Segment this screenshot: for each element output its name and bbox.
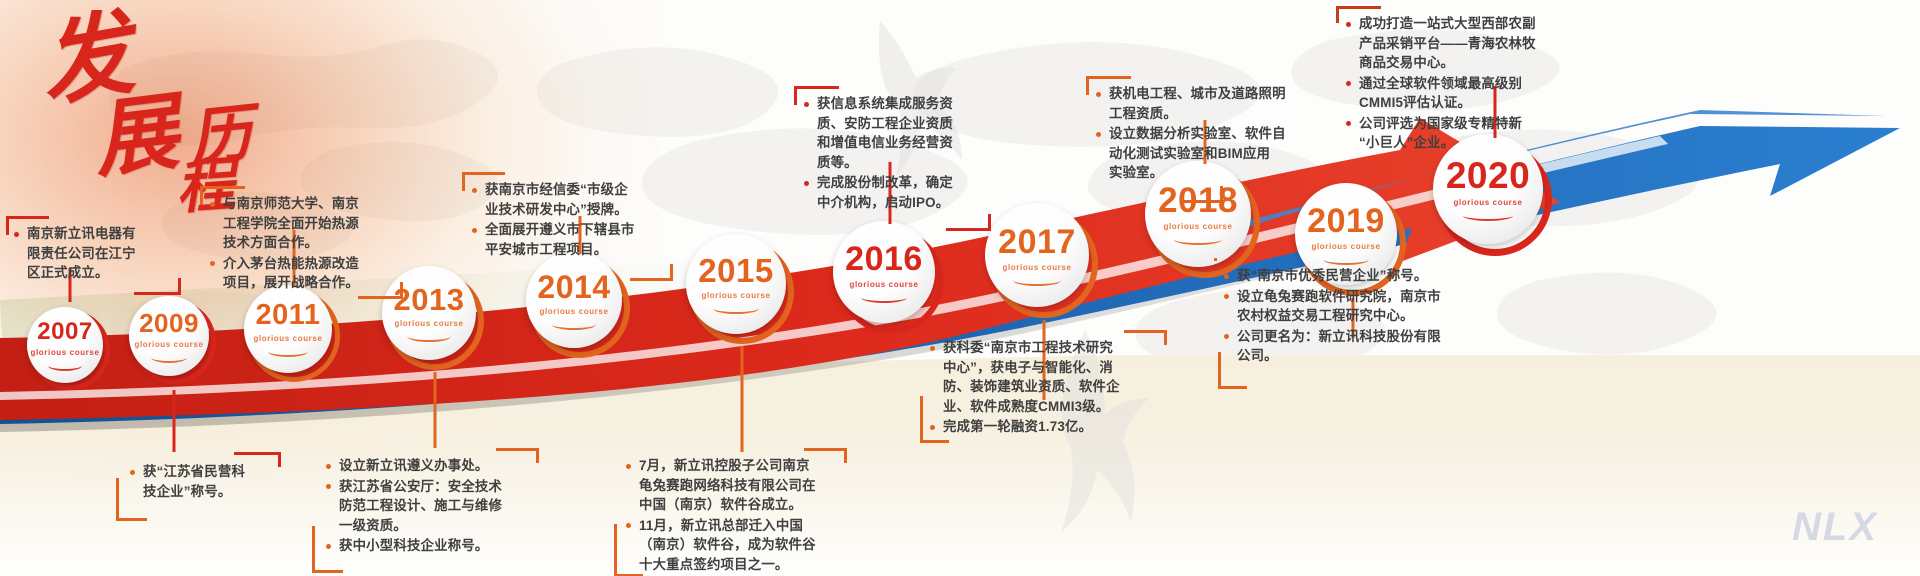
milestone-card-2019: 获“南京市优秀民营企业”称号。 设立龟兔赛跑软件研究院，南京市 农村权益交易工程…: [1214, 258, 1472, 367]
milestone-item: 完成第一轮融资1.73亿。: [930, 417, 1166, 437]
milestone-item: 完成股份制改革，确定 中介机构，启动IPO。: [804, 173, 990, 212]
year-badge-2009[interactable]: 2009 glorious course: [132, 300, 216, 384]
badge-year-2011: 2011: [256, 301, 321, 330]
badge-subtitle: glorious course: [394, 319, 463, 328]
badge-subtitle: glorious course: [1163, 222, 1232, 231]
milestone-item: 11月，新立讯总部迁入中国 （南京）软件谷，成为软件谷 十大重点签约项目之一。: [626, 516, 848, 575]
badge-disc: 2017 glorious course: [985, 203, 1089, 307]
badge-subtitle: glorious course: [1453, 198, 1522, 207]
corner-bracket-br: [358, 282, 403, 299]
year-badge-2020[interactable]: 2020 glorious course: [1438, 142, 1552, 256]
corner-bracket-bl: [1218, 352, 1247, 389]
badge-year-2020: 2020: [1446, 157, 1530, 194]
corner-bracket-br: [946, 214, 991, 231]
milestone-item: 获江苏省公安厅：安全技术 防范工程设计、施工与维修 一级资质。: [326, 477, 540, 536]
milestone-item: 获信息系统集成服务资 质、安防工程企业资质 和增值电信业务经营资 质等。: [804, 94, 990, 172]
title-char-2: 展: [89, 91, 183, 185]
milestone-item: 全面展开遵义市下辖县市 平安城市工程项目。: [472, 220, 672, 259]
milestone-card-2017: 获科委“南京市工程技术研究 中心”，获电子与智能化、消 防、装饰建筑业资质、软件…: [918, 330, 1166, 438]
milestone-item: 公司更名为：新立讯科技股份有限 公司。: [1224, 327, 1472, 366]
milestone-card-2013: 设立新立讯遵义办事处。 获江苏省公安厅：安全技术 防范工程设计、施工与维修 一级…: [310, 448, 540, 557]
badge-subtitle: glorious course: [849, 280, 918, 289]
badge-disc: 2011 glorious course: [244, 285, 332, 373]
corner-bracket-br: [630, 264, 673, 281]
badge-smile: [713, 303, 759, 314]
milestone-card-2020: 成功打造一站式大型西部农副 产品采销平台——青海农林牧 商品交易中心。 通过全球…: [1336, 6, 1592, 154]
badge-year-2017: 2017: [998, 225, 1076, 259]
badge-smile: [151, 352, 188, 363]
milestone-card-2015: 7月，新立讯控股子公司南京 龟兔赛跑网络科技有限公司在 中国（南京）软件谷成立。…: [612, 448, 848, 575]
corner-bracket-bl: [116, 478, 147, 521]
badge-smile: [407, 331, 450, 342]
milestone-card-2007: 南京新立讯电器有 限责任公司在江宁 区正式成立。: [6, 216, 186, 284]
badge-smile: [861, 292, 908, 303]
milestone-item: 获机电工程、城市及道路照明 工程资质。: [1096, 84, 1326, 123]
milestone-item: 成功打造一站式大型西部农副 产品采销平台——青海农林牧 商品交易中心。: [1346, 14, 1592, 73]
corner-bracket-tr: [1214, 258, 1217, 261]
badge-smile: [552, 319, 596, 330]
badge-subtitle: glorious course: [701, 291, 770, 300]
milestone-item: 获中小型科技企业称号。: [326, 536, 540, 556]
corner-bracket-br: [1180, 186, 1223, 203]
milestone-card-2009: 获“江苏省民营科 技企业”称号。: [108, 452, 284, 502]
badge-year-2007: 2007: [37, 320, 92, 344]
badge-subtitle: glorious course: [134, 340, 203, 349]
badge-disc: 2016 glorious course: [833, 221, 935, 323]
milestone-item: 公司评选为国家级专精特新 “小巨人”企业。: [1346, 114, 1592, 153]
badge-subtitle: glorious course: [539, 307, 608, 316]
corner-bracket-br: [134, 278, 181, 295]
badge-smile: [1013, 275, 1061, 286]
milestone-card-2014: 获南京市经信委“市级企 业技术研发中心”授牌。 全面展开遵义市下辖县市 平安城市…: [462, 172, 672, 260]
milestone-item: 7月，新立讯控股子公司南京 龟兔赛跑网络科技有限公司在 中国（南京）软件谷成立。: [626, 456, 848, 515]
milestone-item: 获南京市经信委“市级企 业技术研发中心”授牌。: [472, 180, 672, 219]
milestone-item: 获科委“南京市工程技术研究 中心”，获电子与智能化、消 防、装饰建筑业资质、软件…: [930, 338, 1166, 416]
year-badge-2017[interactable]: 2017 glorious course: [990, 210, 1098, 318]
milestone-item: 与南京师范大学、南京 工程学院全面开始热源 技术方面合作。: [210, 194, 400, 253]
badge-year-2019: 2019: [1307, 204, 1385, 238]
year-badge-2011[interactable]: 2011 glorious course: [248, 290, 340, 382]
badge-year-2015: 2015: [698, 254, 773, 287]
milestone-item: 获“江苏省民营科 技企业”称号。: [130, 462, 284, 501]
badge-disc: 2009 glorious course: [129, 296, 209, 376]
badge-year-2016: 2016: [845, 242, 923, 276]
corner-bracket-bl: [312, 526, 343, 573]
milestone-card-2018: 获机电工程、城市及道路照明 工程资质。 设立数据分析实验室、软件自 动化测试实验…: [1086, 76, 1326, 184]
milestone-item: 获“南京市优秀民营企业”称号。: [1224, 266, 1472, 286]
corner-bracket-bl: [920, 396, 949, 443]
badge-smile: [48, 360, 83, 371]
milestone-item: 通过全球软件领域最高级别 CMMI5评估认证。: [1346, 74, 1592, 113]
milestone-card-2011: 与南京师范大学、南京 工程学院全面开始热源 技术方面合作。 介入茅台热能热源改造…: [200, 186, 400, 294]
badge-disc: 2014 glorious course: [526, 252, 622, 348]
year-badge-2016[interactable]: 2016 glorious course: [838, 228, 944, 334]
milestone-item: 设立数据分析实验室、软件自 动化测试实验室和BIM应用 实验室。: [1096, 124, 1326, 183]
badge-year-2009: 2009: [139, 310, 199, 336]
company-watermark: NLX: [1792, 505, 1878, 550]
badge-disc: 2015 glorious course: [686, 234, 786, 334]
year-badge-2014[interactable]: 2014 glorious course: [530, 258, 630, 358]
badge-subtitle: glorious course: [1311, 242, 1380, 251]
badge-subtitle: glorious course: [253, 334, 322, 343]
badge-smile: [1174, 234, 1223, 245]
milestone-card-2016: 获信息系统集成服务资 质、安防工程企业资质 和增值电信业务经营资 质等。 完成股…: [794, 86, 990, 213]
year-badge-2007[interactable]: 2007 glorious course: [30, 310, 110, 390]
badge-year-2013: 2013: [394, 284, 465, 315]
timeline-infographic: 发 展 历 程 2007 glorious course 2009 glorio…: [0, 0, 1920, 576]
milestone-item: 南京新立讯电器有 限责任公司在江宁 区正式成立。: [14, 224, 186, 283]
badge-year-2014: 2014: [537, 271, 610, 303]
milestone-item: 设立龟兔赛跑软件研究院，南京市 农村权益交易工程研究中心。: [1224, 287, 1472, 326]
corner-bracket-bl: [614, 524, 643, 576]
badge-smile: [268, 346, 308, 357]
milestone-item: 设立新立讯遵义办事处。: [326, 456, 540, 476]
badge-subtitle: glorious course: [30, 348, 99, 357]
badge-subtitle: glorious course: [1002, 263, 1071, 272]
badge-disc: 2007 glorious course: [27, 307, 103, 383]
badge-smile: [1463, 210, 1514, 221]
year-badge-2015[interactable]: 2015 glorious course: [690, 240, 794, 344]
